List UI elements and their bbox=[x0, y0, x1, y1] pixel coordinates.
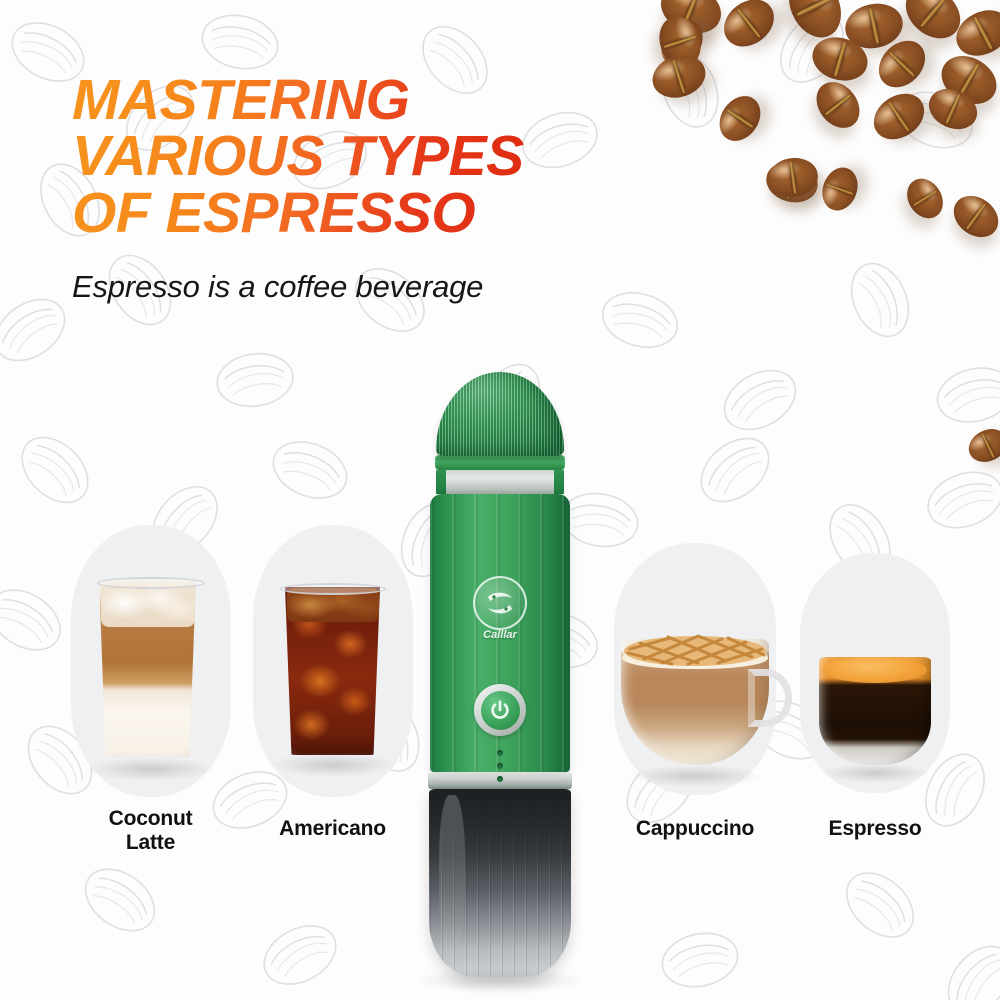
coconut-latte-glass bbox=[93, 577, 209, 759]
poster-canvas: MASTERING VARIOUS TYPES OF ESPRESSO Espr… bbox=[0, 0, 1000, 1000]
drink-item-cappuccino[interactable]: Cappuccino bbox=[600, 525, 790, 885]
espresso-glass bbox=[817, 655, 933, 769]
glass-shadow bbox=[627, 765, 763, 787]
machine-ribbed-cap[interactable] bbox=[436, 372, 564, 456]
page-title: MASTERING VARIOUS TYPES OF ESPRESSO bbox=[72, 72, 524, 241]
cup-handle bbox=[748, 669, 792, 727]
led-indicator bbox=[497, 776, 503, 782]
brand-logo-text: Calllar bbox=[483, 629, 517, 641]
caramel-drizzle-icon bbox=[622, 633, 768, 667]
drink-label-cappuccino: Cappuccino bbox=[636, 817, 754, 841]
drink-label-coconut-latte: Coconut Latte bbox=[109, 807, 193, 856]
glass-shadow bbox=[86, 757, 216, 781]
led-indicator bbox=[497, 763, 503, 769]
machine-cap-collar bbox=[435, 455, 565, 470]
machine-shadow bbox=[415, 967, 585, 993]
drink-label-espresso: Espresso bbox=[829, 817, 922, 841]
machine-cup-base[interactable] bbox=[429, 789, 571, 977]
headline-line-3: OF ESPRESSO bbox=[72, 185, 524, 241]
machine-water-window bbox=[436, 470, 564, 494]
power-button-inner bbox=[481, 691, 520, 730]
portable-espresso-machine[interactable]: Calllar bbox=[400, 372, 600, 977]
cappuccino-cup bbox=[620, 635, 770, 767]
drink-item-espresso[interactable]: Espresso bbox=[790, 525, 960, 885]
americano-glass bbox=[276, 583, 390, 759]
headline-line-1: MASTERING bbox=[72, 72, 524, 128]
machine-body: Calllar bbox=[430, 494, 570, 772]
power-button[interactable] bbox=[474, 684, 526, 736]
glass-rim bbox=[97, 577, 205, 589]
headline-block: MASTERING VARIOUS TYPES OF ESPRESSO Espr… bbox=[72, 72, 524, 305]
drink-label-americano: Americano bbox=[279, 817, 386, 841]
headline-line-2: VARIOUS TYPES bbox=[72, 128, 524, 184]
subheadline: Espresso is a coffee beverage bbox=[72, 269, 524, 305]
drink-item-coconut-latte[interactable]: Coconut Latte bbox=[58, 525, 243, 885]
americano-liquid bbox=[279, 587, 387, 755]
ice-cubes-icon bbox=[101, 583, 195, 627]
drink-item-americano[interactable]: Americano bbox=[240, 525, 425, 885]
brand-logo-icon: Calllar bbox=[473, 576, 527, 630]
base-highlight bbox=[439, 795, 465, 953]
glass-rim bbox=[280, 583, 386, 595]
crema-layer bbox=[823, 657, 927, 683]
coconut-latte-liquid bbox=[93, 581, 203, 757]
led-indicator bbox=[497, 750, 503, 756]
power-icon bbox=[489, 699, 511, 721]
